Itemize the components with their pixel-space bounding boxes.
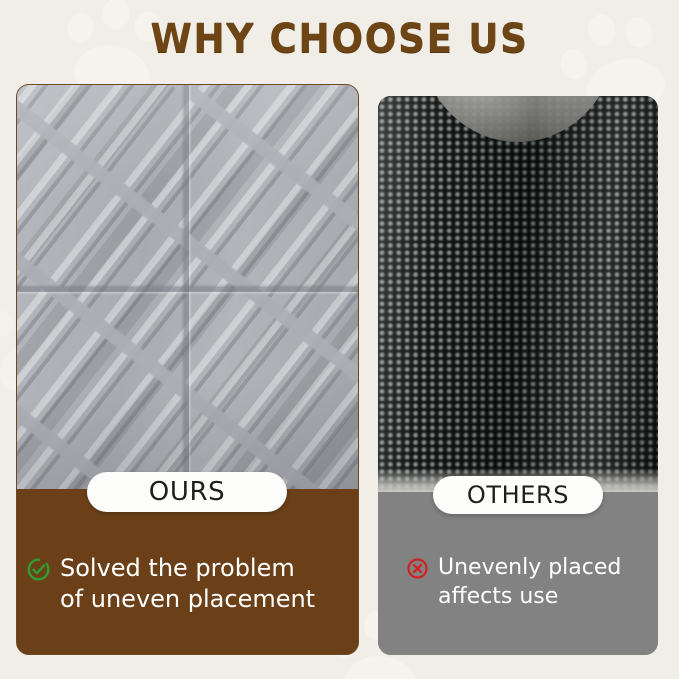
badge-ours: OURS: [87, 472, 287, 512]
check-circle-icon: [26, 557, 51, 590]
badge-others: OTHERS: [433, 476, 603, 514]
mesh-lighting-overlay: [378, 96, 658, 492]
page-title: WHY CHOOSE US: [20, 16, 658, 62]
product-image-others: [378, 96, 658, 492]
caption-others-text: Unevenly placed affects use: [438, 553, 621, 611]
x-circle-icon: [406, 557, 429, 588]
caption-ours-text: Solved the problem of uneven placement: [60, 553, 315, 615]
caption-others: Unevenly placed affects use: [406, 553, 646, 611]
caption-ours: Solved the problem of uneven placement: [26, 553, 344, 615]
product-image-ours: [17, 85, 358, 489]
mat-lighting-overlay: [17, 85, 358, 489]
